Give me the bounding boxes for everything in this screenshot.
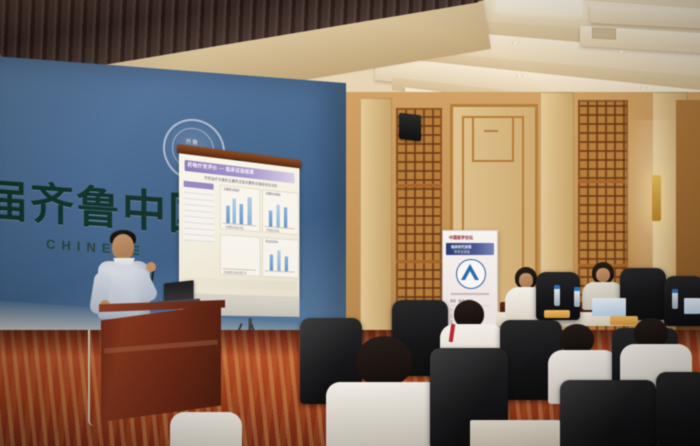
- triangle-inner-icon: [465, 271, 475, 280]
- bottle-cap: [554, 285, 560, 289]
- downlight: [640, 86, 647, 90]
- chair: [620, 268, 666, 320]
- water-bottle: [574, 290, 580, 307]
- conference-photo: 齐鲁 届齐鲁中国 CHINESE 药物疗效评价 — 临床试验结果 不同治疗方案的…: [0, 0, 700, 446]
- chart-bar: [247, 197, 251, 225]
- attendee-shirt: [326, 382, 444, 446]
- chart-bar: [277, 250, 280, 271]
- chart-bar: [232, 198, 236, 223]
- wall-pilaster: [360, 98, 392, 348]
- wall-loudspeaker: [399, 113, 421, 141]
- bottle-cap: [672, 289, 678, 293]
- table-cloth: [470, 420, 560, 446]
- table-row: [184, 234, 214, 242]
- chart-bar: [240, 204, 244, 224]
- chart-bar: [285, 256, 288, 271]
- chart-bar: [226, 206, 230, 224]
- speaker-podium: [101, 304, 221, 422]
- attendee-face: [519, 273, 533, 288]
- downlight: [512, 41, 519, 45]
- chart-bar: [269, 210, 272, 226]
- ceiling-vent: [592, 27, 616, 39]
- banner-logo-text: 中国医学论坛: [449, 235, 473, 241]
- chart-panel-label: 安全性评价: [266, 239, 279, 244]
- tissue-box: [684, 298, 700, 314]
- water-bottle: [672, 292, 678, 309]
- downlight: [618, 50, 625, 54]
- chart-bar: [284, 207, 287, 228]
- chair: [656, 372, 700, 446]
- snack-plate: [610, 316, 638, 325]
- slide-surface: 药物疗效评价 — 临床试验结果 不同治疗方案的主要终点及次要终点指标对比分析 主…: [179, 153, 300, 296]
- projection-screen: 药物疗效评价 — 临床试验结果 不同治疗方案的主要终点及次要终点指标对比分析 主…: [177, 144, 301, 318]
- chart-bar: [276, 205, 279, 228]
- downlight: [516, 74, 523, 78]
- chart-bar: [270, 255, 273, 271]
- wall-sconce: [652, 175, 661, 221]
- snack-plate: [544, 310, 570, 318]
- presenter-hand-right: [146, 262, 156, 272]
- bottle-cap: [574, 287, 580, 291]
- power-cable: [88, 330, 94, 426]
- banner-title-line2: 学术交流会: [454, 249, 470, 254]
- slide-data-table: [184, 181, 214, 243]
- attendee-shoulder: [170, 412, 242, 446]
- tissue-box: [592, 298, 626, 316]
- attendee-face: [596, 268, 610, 282]
- attendee-head: [356, 336, 412, 386]
- water-bottle: [554, 288, 560, 306]
